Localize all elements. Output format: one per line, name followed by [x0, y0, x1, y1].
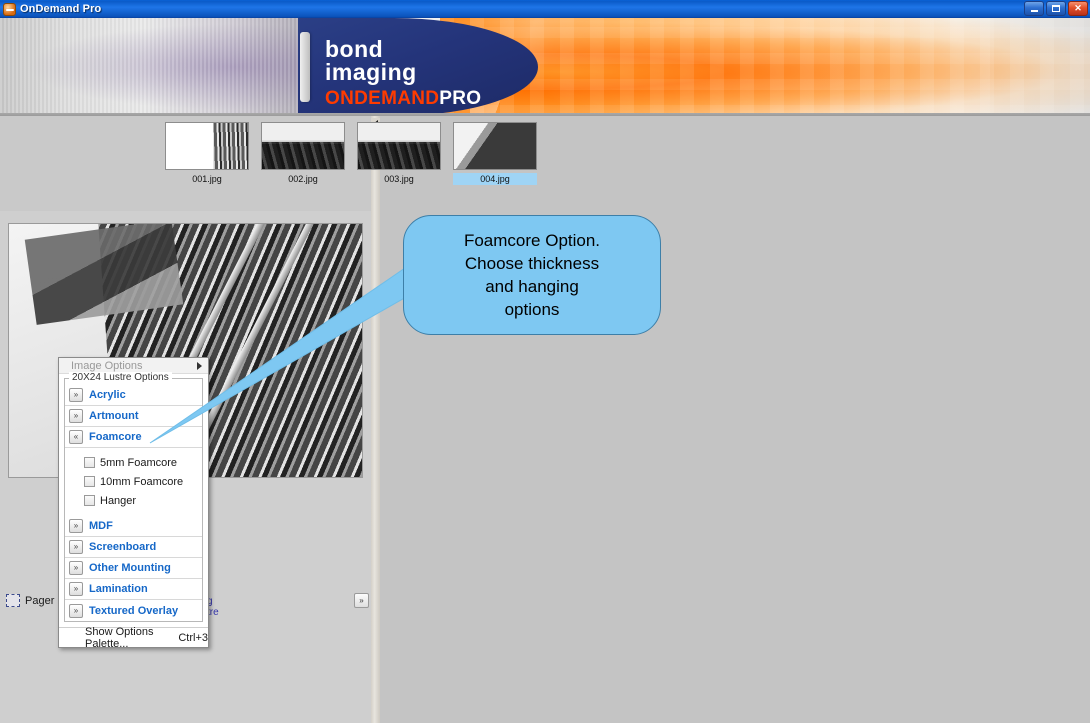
- option-label-other-mounting: Other Mounting: [89, 562, 171, 574]
- close-icon: ✕: [1074, 3, 1082, 14]
- pane-splitter[interactable]: [371, 116, 380, 723]
- image-options-popup-menu: Image Options 20X24 Lustre Options » Acr…: [58, 357, 209, 648]
- option-row-screenboard[interactable]: » Screenboard: [65, 537, 202, 558]
- chevron-down-icon-other-mounting[interactable]: »: [69, 561, 83, 575]
- checkbox-row-10mm-foamcore[interactable]: 10mm Foamcore: [65, 472, 202, 491]
- chevron-down-icon-screenboard[interactable]: »: [69, 540, 83, 554]
- thumbnail-label-003: 003.jpg: [357, 173, 441, 185]
- option-row-acrylic[interactable]: » Acrylic: [65, 385, 202, 406]
- pager-label: Pager: [25, 595, 54, 607]
- thumbnail-photo-landscape-2: [358, 123, 440, 169]
- checkbox-label-10mm-foamcore: 10mm Foamcore: [100, 476, 183, 488]
- option-row-artmount[interactable]: » Artmount: [65, 406, 202, 427]
- logo-ondemand-text: ONDEMAND: [325, 88, 439, 109]
- expand-panel-button[interactable]: »: [354, 593, 369, 608]
- chevron-down-icon-acrylic[interactable]: »: [69, 388, 83, 402]
- minimize-button[interactable]: [1024, 1, 1044, 16]
- thumbnail-image-004[interactable]: [453, 122, 537, 170]
- option-row-lamination[interactable]: » Lamination: [65, 579, 202, 600]
- thumbnail-label-001: 001.jpg: [165, 173, 249, 185]
- window-title: OnDemand Pro: [20, 3, 101, 15]
- logo-bond-text: bond: [325, 38, 481, 60]
- option-label-lamination: Lamination: [89, 583, 148, 595]
- chevron-down-icon-lamination[interactable]: »: [69, 582, 83, 596]
- checkbox-hanger[interactable]: [84, 495, 95, 506]
- option-label-foamcore: Foamcore: [89, 431, 142, 443]
- chevron-down-icon-artmount[interactable]: »: [69, 409, 83, 423]
- thumbnail-001[interactable]: 001.jpg: [165, 122, 249, 185]
- maximize-icon: [1052, 5, 1060, 12]
- checkbox-row-hanger[interactable]: Hanger: [65, 491, 202, 510]
- chevron-up-icon-foamcore[interactable]: «: [69, 430, 83, 444]
- thumbnail-003[interactable]: 003.jpg: [357, 122, 441, 185]
- checkbox-10mm-foamcore[interactable]: [84, 476, 95, 487]
- banner-left-gradient: [0, 18, 300, 116]
- option-row-other-mounting[interactable]: » Other Mounting: [65, 558, 202, 579]
- thumbnail-photo-bark: [166, 123, 248, 169]
- thumbnail-image-001[interactable]: [165, 122, 249, 170]
- logo-product-text: ONDEMANDPRO: [325, 87, 481, 111]
- thumbnail-label-002: 002.jpg: [261, 173, 345, 185]
- thumbnail-photo-landscape: [262, 123, 344, 169]
- logo-imaging-text: imaging: [325, 60, 481, 84]
- checkbox-label-5mm-foamcore: 5mm Foamcore: [100, 457, 177, 469]
- thumbnail-strip: 001.jpg 002.jpg 003.jpg 004.jpg: [165, 122, 537, 185]
- show-options-palette-shortcut: Ctrl+3: [178, 632, 208, 644]
- logo-pro-text: PRO: [439, 88, 481, 109]
- application-window: OnDemand Pro ✕ bond imaging ONDEMANDPRO: [0, 0, 1090, 723]
- chevron-down-icon-textured-overlay[interactable]: »: [69, 604, 83, 618]
- banner-tab-accent: [300, 32, 310, 102]
- lustre-options-legend: 20X24 Lustre Options: [69, 372, 172, 383]
- option-row-foamcore[interactable]: « Foamcore: [65, 427, 202, 448]
- banner-sheen: [470, 18, 990, 116]
- option-label-acrylic: Acrylic: [89, 389, 126, 401]
- thumbnail-002[interactable]: 002.jpg: [261, 122, 345, 185]
- option-row-mdf[interactable]: » MDF: [65, 516, 202, 537]
- thumbnail-label-004: 004.jpg: [453, 173, 537, 185]
- window-controls: ✕: [1024, 1, 1088, 16]
- annotation-callout: Foamcore Option. Choose thickness and ha…: [403, 215, 661, 335]
- option-label-artmount: Artmount: [89, 410, 139, 422]
- bond-imaging-logo: bond imaging ONDEMANDPRO: [325, 38, 481, 111]
- app-icon: [3, 3, 16, 16]
- option-label-mdf: MDF: [89, 520, 113, 532]
- checkbox-label-hanger: Hanger: [100, 495, 136, 507]
- submenu-arrow-icon: [197, 362, 202, 370]
- annotation-callout-text: Foamcore Option. Choose thickness and ha…: [450, 229, 614, 321]
- option-label-screenboard: Screenboard: [89, 541, 156, 553]
- minimize-icon: [1031, 10, 1038, 12]
- checkbox-row-5mm-foamcore[interactable]: 5mm Foamcore: [65, 453, 202, 472]
- thumbnail-photo-rail: [454, 123, 536, 169]
- close-button[interactable]: ✕: [1068, 1, 1088, 16]
- brand-banner: bond imaging ONDEMANDPRO: [0, 18, 1090, 116]
- show-options-palette-label: Show Options Palette...: [85, 626, 168, 650]
- show-options-palette-item[interactable]: Show Options Palette... Ctrl+3: [59, 627, 208, 647]
- option-row-textured-overlay[interactable]: » Textured Overlay: [65, 600, 202, 621]
- thumbnail-004[interactable]: 004.jpg: [453, 122, 537, 185]
- lustre-options-group: 20X24 Lustre Options » Acrylic » Artmoun…: [64, 378, 203, 622]
- pager-control[interactable]: Pager: [6, 594, 54, 607]
- thumbnail-image-002[interactable]: [261, 122, 345, 170]
- pager-icon: [6, 594, 20, 607]
- foamcore-suboptions: 5mm Foamcore 10mm Foamcore Hanger: [65, 448, 202, 516]
- title-bar: OnDemand Pro ✕: [0, 0, 1090, 18]
- right-pane: [380, 116, 1090, 723]
- maximize-button[interactable]: [1046, 1, 1066, 16]
- thumbnail-image-003[interactable]: [357, 122, 441, 170]
- chevron-down-icon-mdf[interactable]: »: [69, 519, 83, 533]
- checkbox-5mm-foamcore[interactable]: [84, 457, 95, 468]
- option-label-textured-overlay: Textured Overlay: [89, 605, 178, 617]
